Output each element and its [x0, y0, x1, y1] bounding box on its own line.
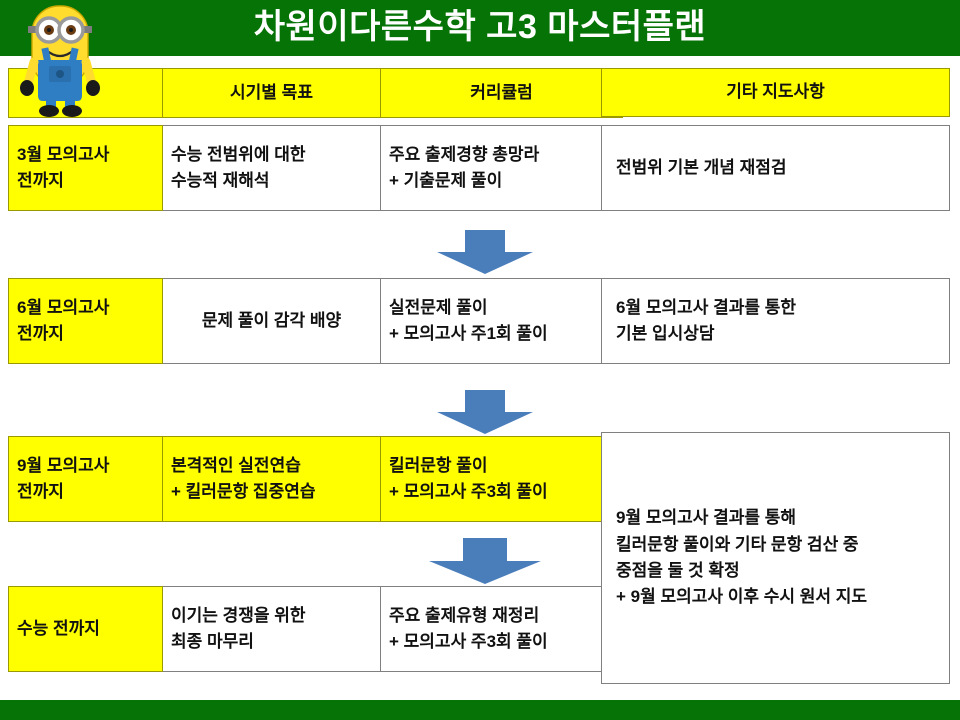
slide-canvas: 차원이다른수학 고3 마스터플랜 시기별 — [0, 0, 960, 720]
page-title: 차원이다른수학 고3 마스터플랜 — [0, 0, 960, 56]
table-row: 수능 전까지 이기는 경쟁을 위한 최종 마무리 주요 출제유형 재정리 + 모… — [9, 587, 623, 672]
right-panel-header: 기타 지도사항 — [601, 68, 950, 117]
schedule-row-june: 6월 모의고사 전까지 문제 풀이 감각 배양 실전문제 풀이 + 모의고사 주… — [8, 278, 623, 364]
row-goal-suneung: 이기는 경쟁을 위한 최종 마무리 — [163, 587, 381, 672]
table-row: 3월 모의고사 전까지 수능 전범위에 대한 수능적 재해석 주요 출제경향 총… — [9, 126, 623, 211]
table-row: 6월 모의고사 전까지 문제 풀이 감각 배양 실전문제 풀이 + 모의고사 주… — [9, 279, 623, 364]
row-curriculum-suneung: 주요 출제유형 재정리 + 모의고사 주3회 풀이 — [381, 587, 623, 672]
schedule-row-march: 3월 모의고사 전까지 수능 전범위에 대한 수능적 재해석 주요 출제경향 총… — [8, 125, 623, 211]
right-note-june: 6월 모의고사 결과를 통한 기본 입시상담 — [601, 278, 950, 364]
minion-character-icon — [18, 0, 104, 118]
row-period-suneung: 수능 전까지 — [9, 587, 163, 672]
row-curriculum-march: 주요 출제경향 총망라 + 기출문제 풀이 — [381, 126, 623, 211]
arrow-june-to-september-icon — [429, 390, 541, 434]
schedule-row-september: 9월 모의고사 전까지 본격적인 실전연습 + 킬러문항 집중연습 킬러문항 풀… — [8, 436, 623, 522]
arrow-march-to-june-icon — [429, 230, 541, 274]
right-note-march: 전범위 기본 개념 재점검 — [601, 125, 950, 211]
footer-bar — [0, 700, 960, 720]
header-cell-curriculum: 커리큘럼 — [381, 69, 623, 118]
row-curriculum-june: 실전문제 풀이 + 모의고사 주1회 풀이 — [381, 279, 623, 364]
right-note-september: 9월 모의고사 결과를 통해 킬러문항 풀이와 기타 문항 검산 중 중점을 둘… — [601, 432, 950, 684]
schedule-row-suneung: 수능 전까지 이기는 경쟁을 위한 최종 마무리 주요 출제유형 재정리 + 모… — [8, 586, 623, 672]
table-row: 9월 모의고사 전까지 본격적인 실전연습 + 킬러문항 집중연습 킬러문항 풀… — [9, 437, 623, 522]
row-period-march: 3월 모의고사 전까지 — [9, 126, 163, 211]
row-goal-september: 본격적인 실전연습 + 킬러문항 집중연습 — [163, 437, 381, 522]
row-period-june: 6월 모의고사 전까지 — [9, 279, 163, 364]
row-curriculum-september: 킬러문항 풀이 + 모의고사 주3회 풀이 — [381, 437, 623, 522]
arrow-september-to-suneung-icon — [421, 538, 549, 584]
row-period-september: 9월 모의고사 전까지 — [9, 437, 163, 522]
header-cell-goal: 시기별 목표 — [163, 69, 381, 118]
row-goal-june: 문제 풀이 감각 배양 — [163, 279, 381, 364]
row-goal-march: 수능 전범위에 대한 수능적 재해석 — [163, 126, 381, 211]
